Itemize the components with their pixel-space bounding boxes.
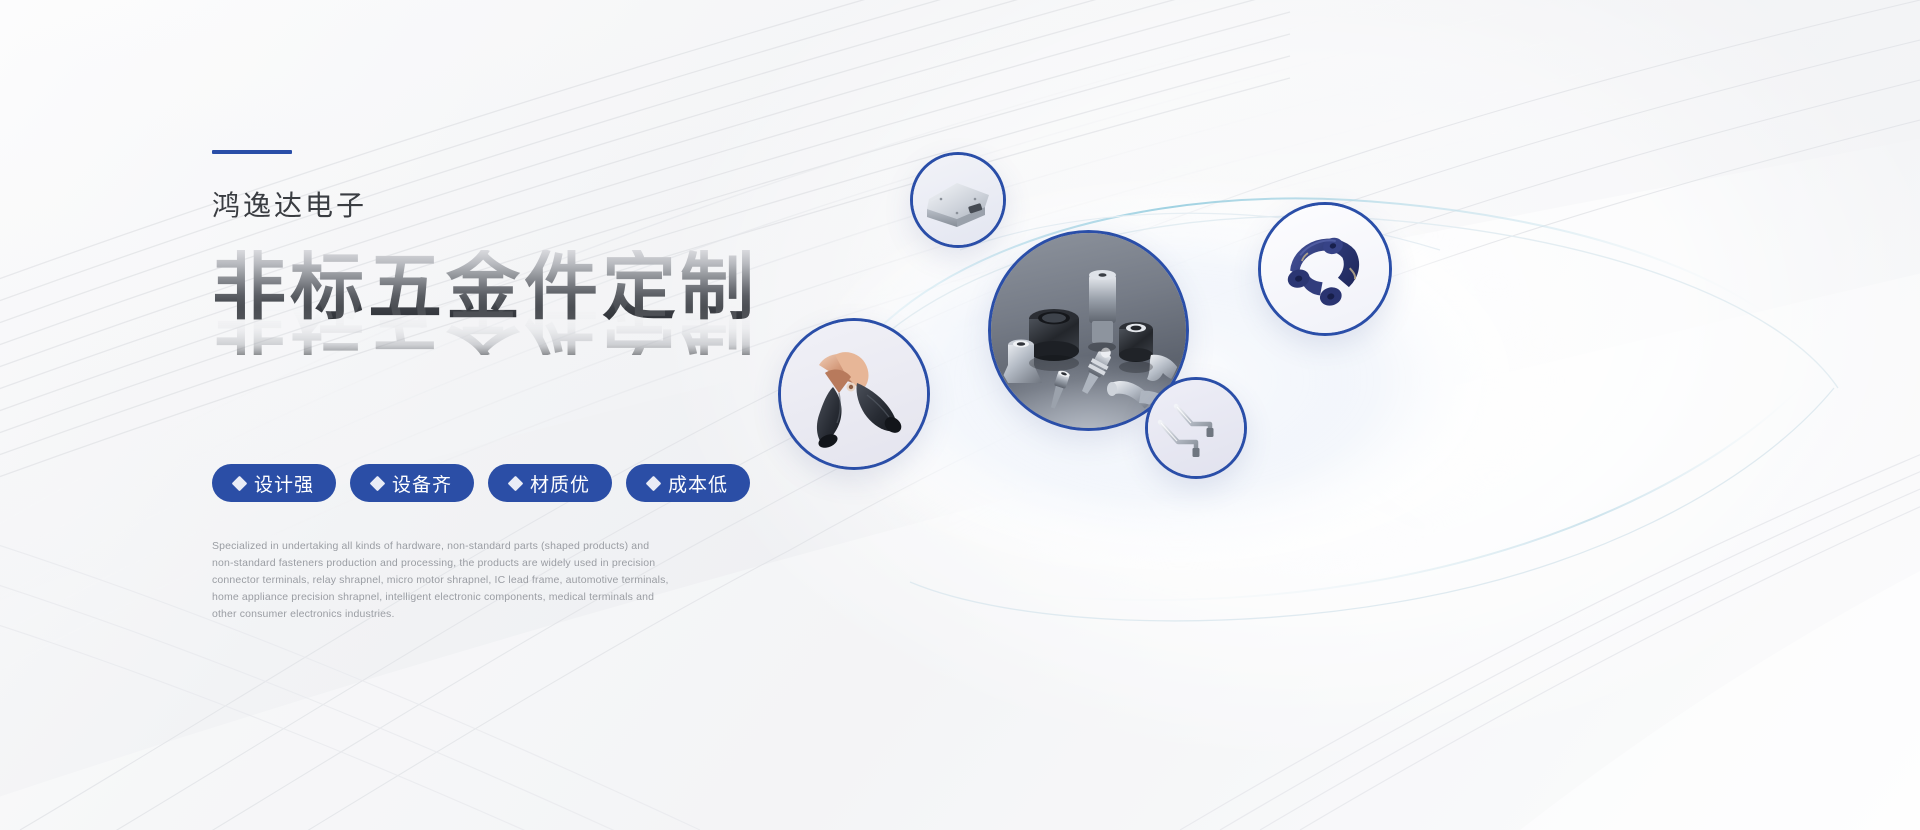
feature-tag-equipment[interactable]: 设备齐 (350, 464, 474, 502)
product-bubble-clamp[interactable] (778, 318, 930, 470)
product-bubble-enclosure[interactable] (910, 152, 1006, 248)
feature-tag-row: 设计强 设备齐 材质优 成本低 (212, 464, 772, 502)
banner-stage: 鸿逸达电子 非标五金件定制 非标五金件定制 设计强 设备齐 材质优 成本低 (0, 0, 1920, 830)
diamond-icon (370, 475, 386, 491)
product-bubble-pins[interactable] (1145, 377, 1247, 479)
feature-tag-design[interactable]: 设计强 (212, 464, 336, 502)
pins-illustration (1148, 380, 1244, 476)
feature-tag-label: 设计强 (254, 470, 314, 497)
feature-tag-label: 材质优 (530, 470, 590, 497)
feature-tag-label: 设备齐 (392, 470, 452, 497)
feature-tag-material[interactable]: 材质优 (488, 464, 612, 502)
product-collage (760, 130, 1880, 650)
banner-text-block: 鸿逸达电子 非标五金件定制 非标五金件定制 设计强 设备齐 材质优 成本低 (212, 150, 772, 623)
headline-reflection: 非标五金件定制 (212, 281, 758, 355)
diamond-icon (232, 475, 248, 491)
diamond-icon (646, 475, 662, 491)
product-bubble-cclip[interactable] (1258, 202, 1392, 336)
clamp-illustration (781, 321, 927, 467)
c-clip-illustration (1261, 205, 1389, 333)
enclosure-illustration (913, 155, 1003, 245)
feature-tag-cost[interactable]: 成本低 (626, 464, 750, 502)
banner-description: Specialized in undertaking all kinds of … (212, 538, 672, 623)
brand-name: 鸿逸达电子 (212, 192, 772, 220)
headline-wrap: 非标五金件定制 非标五金件定制 (212, 250, 772, 368)
feature-tag-label: 成本低 (668, 470, 728, 497)
diamond-icon (508, 475, 524, 491)
accent-rule (212, 150, 292, 154)
